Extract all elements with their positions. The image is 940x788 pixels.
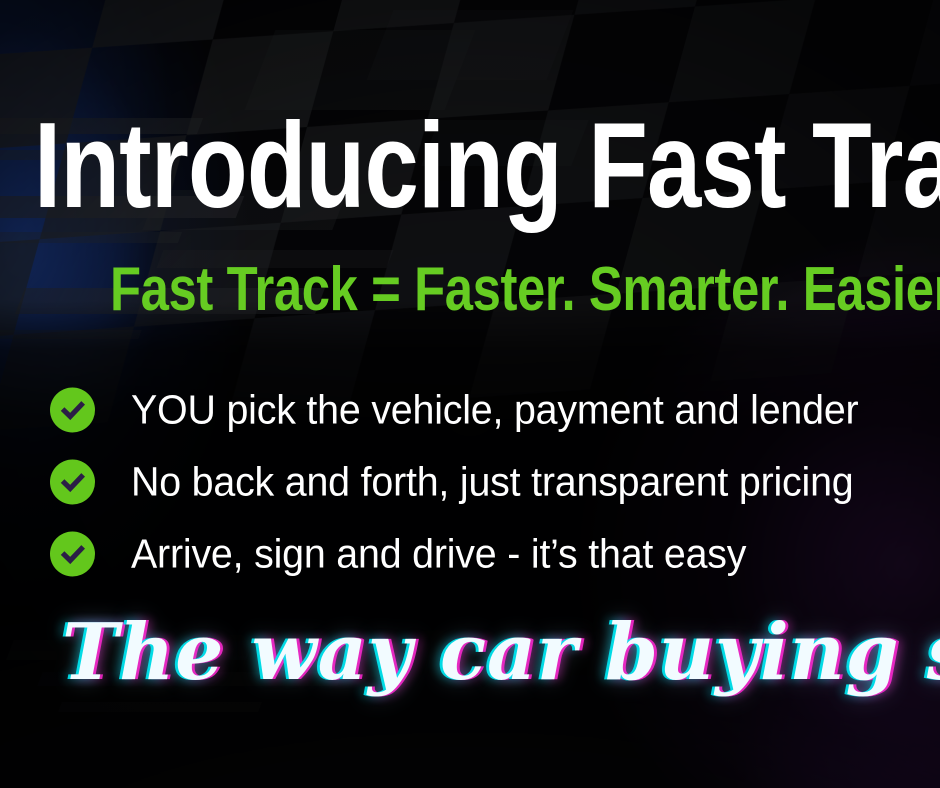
list-item: Arrive, sign and drive - it’s that easy bbox=[0, 518, 940, 590]
list-item-label: Arrive, sign and drive - it’s that easy bbox=[131, 534, 746, 575]
check-circle-icon bbox=[50, 388, 95, 433]
subtitle: Fast Track = Faster. Smarter. Easier. bbox=[110, 259, 791, 321]
list-item: No back and forth, just transparent pric… bbox=[0, 446, 940, 518]
poster-content: Introducing Fast Track Fast Track = Fast… bbox=[0, 0, 940, 788]
promo-poster: Introducing Fast Track Fast Track = Fast… bbox=[0, 0, 940, 788]
benefit-list: YOU pick the vehicle, payment and lender… bbox=[0, 374, 940, 590]
check-circle-icon bbox=[50, 532, 95, 577]
check-circle-icon bbox=[50, 460, 95, 505]
page-title: Introducing Fast Track bbox=[34, 104, 732, 226]
list-item: YOU pick the vehicle, payment and lender bbox=[0, 374, 940, 446]
list-item-label: No back and forth, just transparent pric… bbox=[131, 462, 853, 503]
tagline: The way car buying should be. bbox=[62, 614, 896, 692]
list-item-label: YOU pick the vehicle, payment and lender bbox=[131, 390, 858, 431]
